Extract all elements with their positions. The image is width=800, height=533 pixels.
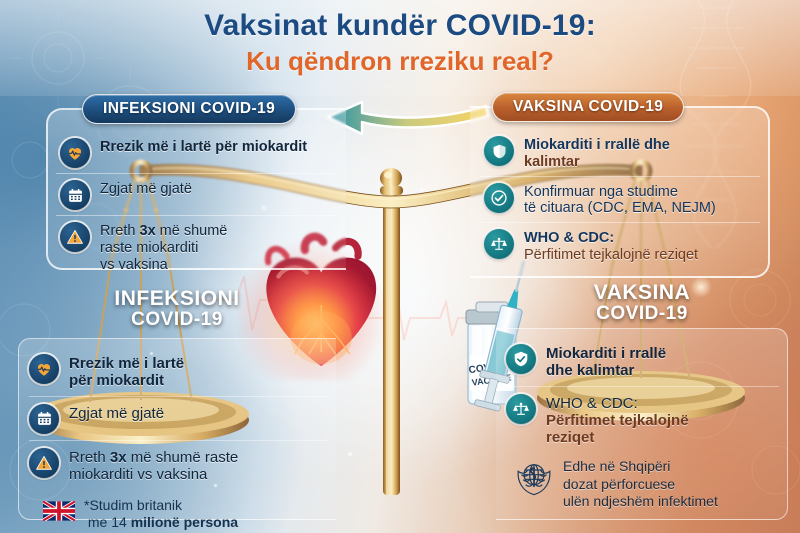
list-item-label: Zgjat më gjatë [100,179,192,198]
vaccine-badge: VAKSINA COVID-19 [492,92,684,122]
panel-frame: Miokarditi i rrallëdhe kalimtar [496,328,788,520]
list-item: Miokarditi i rrallëdhe kalimtar [506,337,779,386]
scales-icon [506,394,536,424]
who-footnote-label: Edhe në Shqipëri dozat përforcuese ulën … [563,458,718,511]
who-footnote: Edhe në Shqipëri dozat përforcuese ulën … [506,452,779,511]
top-left-panel: INFEKSIONI COVID-19 Rrezik më i lartë pë… [46,108,346,270]
heart-pulse-icon [60,138,90,168]
heading-line-1: VAKSINA [496,282,788,304]
title-line-1: Vaksinat kundër COVID-19: [0,9,800,43]
list-item: Rreth 3x më shumë rastemiokarditi vs vak… [29,440,328,490]
uk-flag-icon [43,501,75,526]
infection-rows: Rrezik më i lartë për miokardit [46,132,346,278]
list-item: WHO & CDC:Përfitimet tejkalojnë reziqet [480,222,760,269]
top-right-panel: VAKSINA COVID-19 Miokarditi i rrallë dhe… [470,106,770,278]
heart-pulse-icon [29,354,59,384]
list-item-label: WHO & CDC:Përfitimet tejkalojnë reziqet [524,228,698,264]
list-item: Rrezik më i lartëpër miokardit [29,347,328,396]
calendar-icon [60,180,90,210]
footnote-label: *Studim britanik me 14 milionë persona [84,497,238,531]
list-item: WHO & CDC:Përfitimet tejkalojnëreziqet [506,386,779,453]
bottom-right-panel: VAKSINA COVID-19 Miokarditi i rrallëdhe … [496,282,788,520]
list-item: Zgjat më gjatë [56,173,336,215]
title-line-2: Ku qëndron rreziku real? [0,46,800,77]
list-item-label: Konfirmuar nga studimetë cituara (CDC, E… [524,182,716,218]
calendar-icon [29,404,59,434]
list-item: Konfirmuar nga studimetë cituara (CDC, E… [480,176,760,223]
heading-line-1: INFEKSIONI [18,288,336,310]
shield-icon [484,136,514,166]
list-item: Zgjat më gjatë [29,396,328,440]
panel-frame: Rrezik më i lartëpër miokardit [18,338,336,520]
shield-check-icon [484,183,514,213]
list-item-label: Rreth 3x më shumëraste miokarditivs vaks… [100,221,227,273]
warning-triangle-icon [29,448,59,478]
curved-arrow-left-icon [322,100,492,142]
bottom-left-rows: Rrezik më i lartëpër miokardit [19,339,336,531]
list-item-label: Zgjat më gjatë [69,403,164,422]
bottom-left-panel: INFEKSIONI COVID-19 Rrezik më i lartëpër… [18,288,336,520]
list-item-label: Rrezik më i lartë për miokardit [100,137,307,156]
page-title: Vaksinat kundër COVID-19: Ku qëndron rre… [0,9,800,77]
shield-check-icon [506,344,536,374]
list-item: Rrezik më i lartë për miokardit [56,132,336,173]
heading-line-2: COVID-19 [496,304,788,324]
scales-icon [484,229,514,259]
warning-triangle-icon [60,222,90,252]
list-item-label: Miokarditi i rrallë dhekalimtar [524,135,670,171]
infographic-root: Vaksinat kundër COVID-19: Ku qëndron rre… [0,0,800,533]
list-item-label: WHO & CDC:Përfitimet tejkalojnëreziqet [546,393,689,447]
list-item: Miokarditi i rrallë dhekalimtar [480,130,760,176]
list-item: Rreth 3x më shumëraste miokarditivs vaks… [56,215,336,278]
bottom-right-rows: Miokarditi i rrallëdhe kalimtar [496,329,787,511]
list-item-label: Miokarditi i rrallëdhe kalimtar [546,343,666,380]
infection-badge: INFEKSIONI COVID-19 [82,94,296,124]
bottom-right-heading: VAKSINA COVID-19 [496,282,788,324]
list-item-label: Rrezik më i lartëpër miokardit [69,353,184,390]
who-emblem-icon [514,458,554,503]
bottom-left-heading: INFEKSIONI COVID-19 [18,288,336,330]
vaccine-rows: Miokarditi i rrallë dhekalimtar Konfirmu… [470,130,770,269]
uk-study-footnote: *Studim britanik me 14 milionë persona [29,489,328,531]
list-item-label: Rreth 3x më shumë rastemiokarditi vs vak… [69,447,238,484]
heading-line-2: COVID-19 [18,310,336,330]
